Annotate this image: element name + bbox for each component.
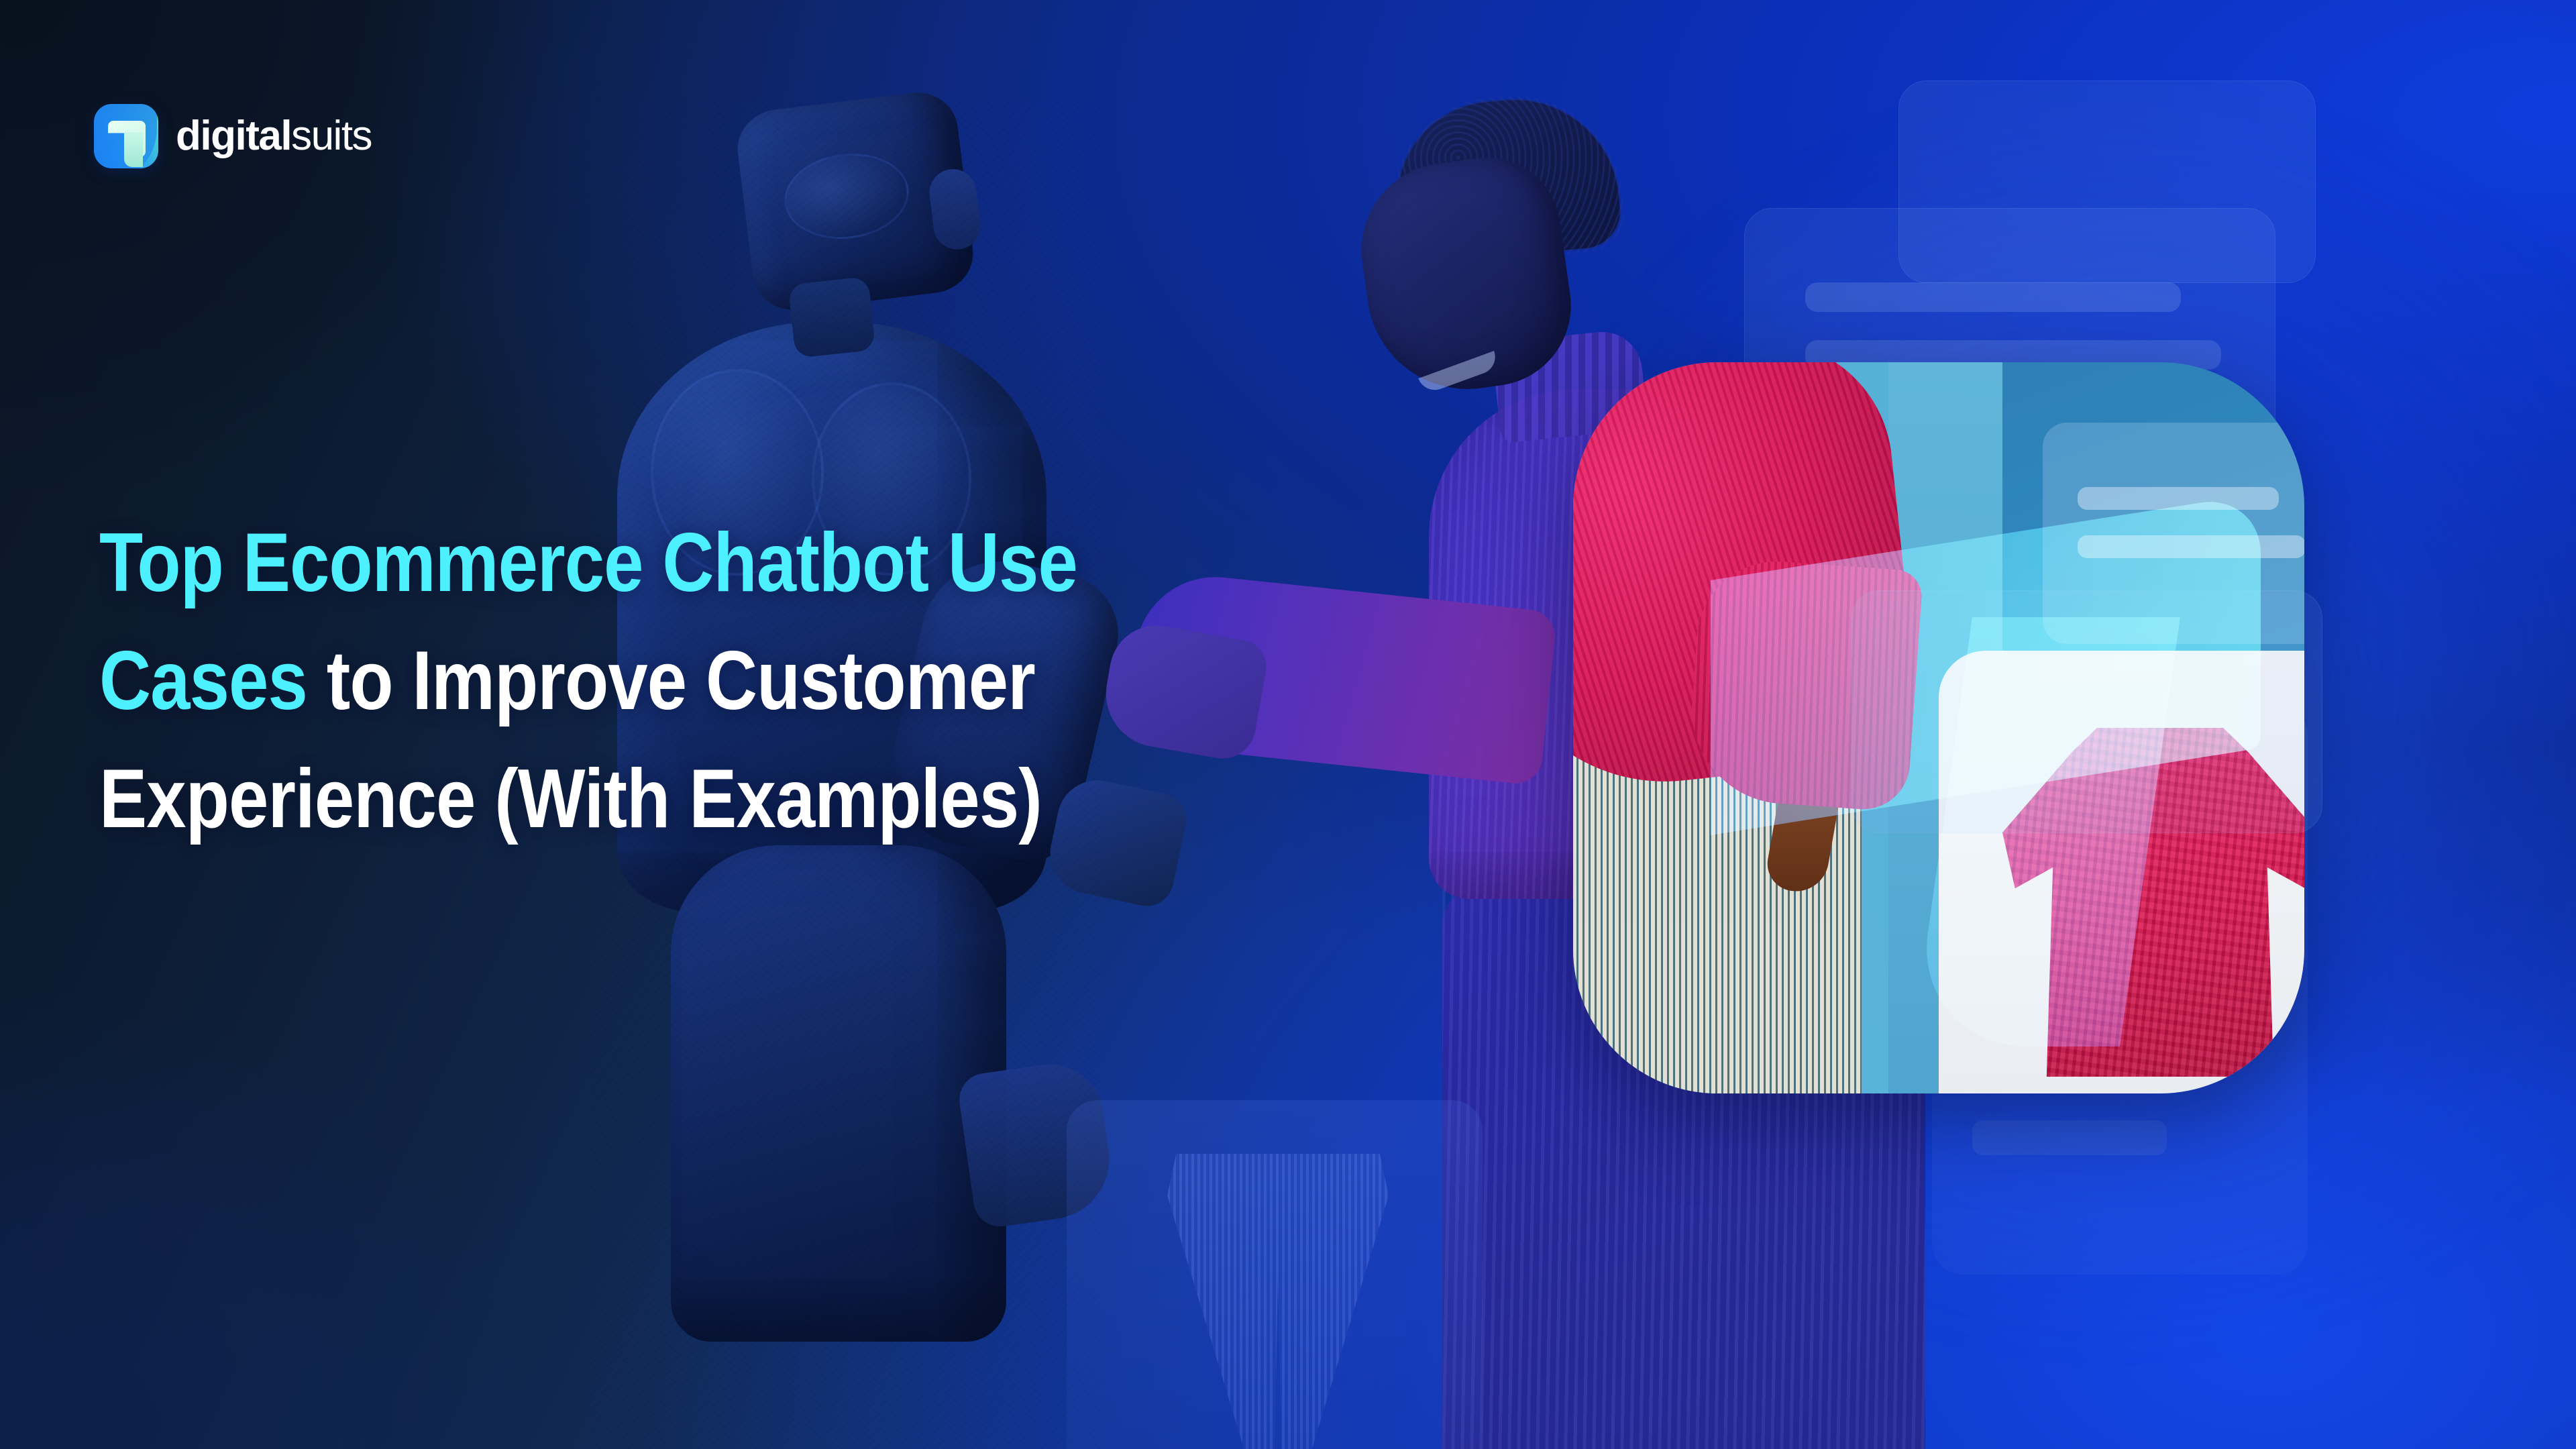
hero-banner: digitalsuits Top Ecommerce Chatbot Use C… xyxy=(0,0,2576,1449)
brand-logo-text: digitalsuits xyxy=(176,115,372,157)
digitalsuits-arrow-logo-icon xyxy=(94,104,158,168)
brand-name-bold: digital xyxy=(176,113,291,159)
page-title: Top Ecommerce Chatbot Use Cases to Impro… xyxy=(99,504,1230,858)
brand-logo[interactable]: digitalsuits xyxy=(94,104,372,168)
brand-name-regular: suits xyxy=(291,113,372,159)
